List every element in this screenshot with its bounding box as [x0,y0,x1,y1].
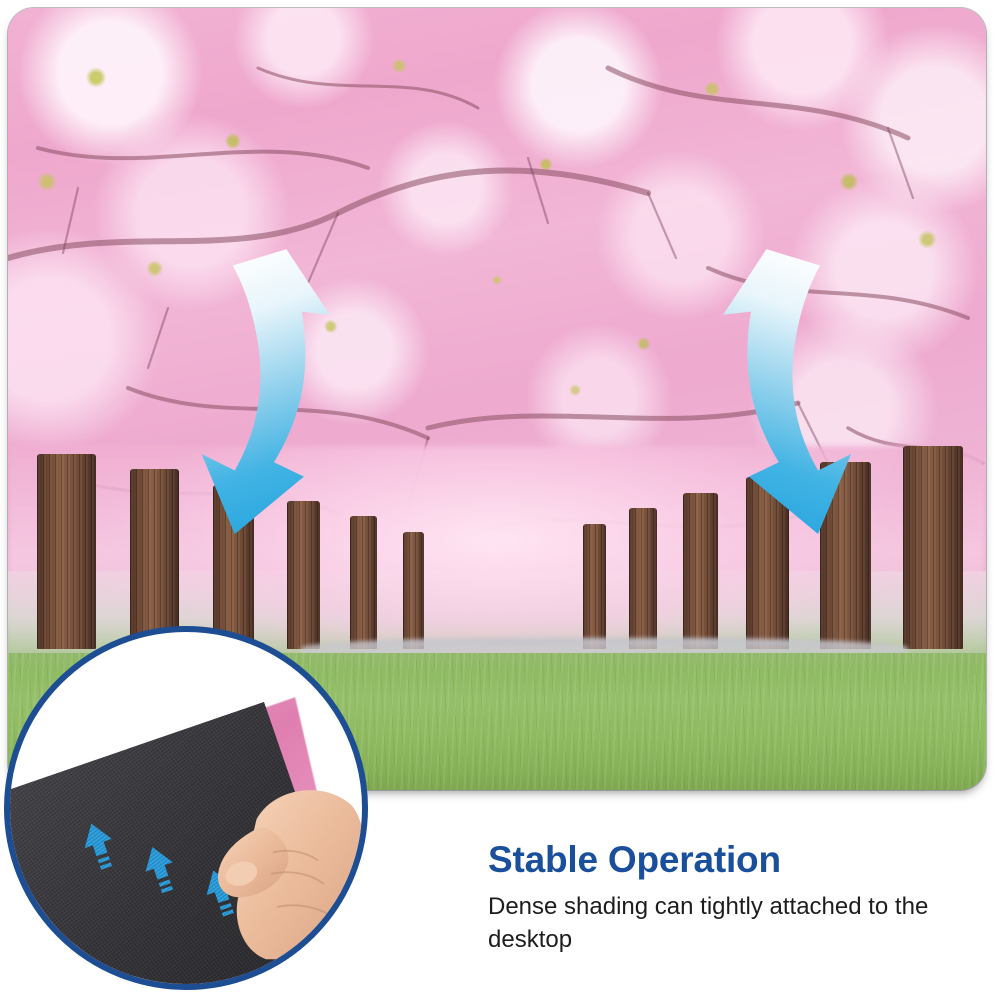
tree-trunk [903,446,964,649]
tree-trunk [37,454,96,650]
tree-trunk [130,469,179,649]
tree-trunk [583,524,605,649]
stable-operation-detail-circle [4,626,368,990]
clockwise-rotation-arrow-right [688,243,874,540]
grip-arrow-up [131,838,192,907]
hand-lifting-pad-icon [207,759,368,963]
grip-arrow-up [70,815,131,884]
clockwise-rotation-arrow-left [179,243,365,540]
tree-trunk [629,508,657,649]
feature-copy-block: Stable Operation Dense shading can tight… [488,840,958,956]
feature-subline: Dense shading can tightly attached to th… [488,890,958,956]
feature-headline: Stable Operation [488,840,958,881]
inset-photo [10,632,362,984]
tree-trunk [403,532,424,649]
